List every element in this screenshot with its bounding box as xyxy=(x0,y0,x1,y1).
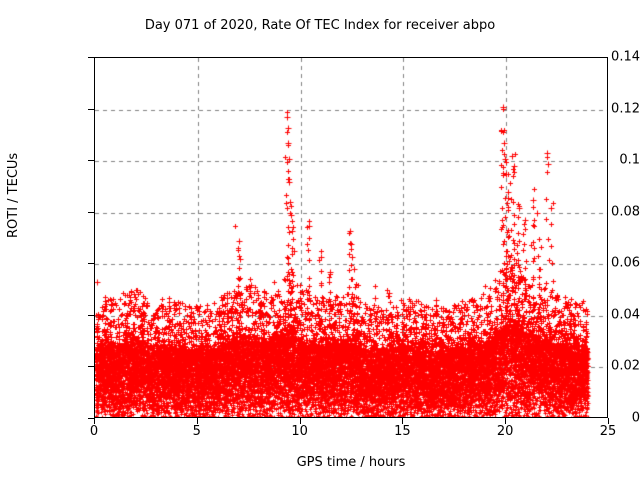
y-axis-title: ROTI / TECUs xyxy=(6,153,21,238)
y-axis-tick-label: 0.06 xyxy=(554,256,640,271)
y-axis-tick-label: 0 xyxy=(554,411,640,426)
chart-title: Day 071 of 2020, Rate Of TEC Index for r… xyxy=(0,18,640,33)
y-axis-tick-mark xyxy=(88,366,94,367)
x-axis-tick-mark xyxy=(505,418,506,424)
x-axis-tick-label: 20 xyxy=(497,424,514,439)
x-axis-tick-mark xyxy=(300,418,301,424)
y-axis-tick-label: 0.02 xyxy=(554,359,640,374)
y-axis-tick-label: 0.14 xyxy=(554,50,640,65)
x-axis-tick-label: 10 xyxy=(291,424,308,439)
plot-area xyxy=(94,57,608,418)
y-axis-tick-label: 0.12 xyxy=(554,101,640,116)
x-axis-tick-mark xyxy=(94,418,95,424)
y-axis-tick-mark xyxy=(88,160,94,161)
y-axis-tick-label: 0.04 xyxy=(554,307,640,322)
y-axis-tick-mark xyxy=(88,109,94,110)
y-axis-tick-mark xyxy=(88,315,94,316)
x-axis-tick-label: 5 xyxy=(193,424,201,439)
x-axis-title: GPS time / hours xyxy=(94,455,608,470)
x-axis-tick-mark xyxy=(402,418,403,424)
y-axis-tick-mark xyxy=(88,263,94,264)
x-axis-tick-label: 25 xyxy=(600,424,617,439)
x-axis-tick-label: 0 xyxy=(90,424,98,439)
y-axis-tick-mark xyxy=(88,212,94,213)
y-axis-tick-label: 0.1 xyxy=(554,153,640,168)
roti-scatter-chart: Day 071 of 2020, Rate Of TEC Index for r… xyxy=(0,0,640,480)
scatter-plot-canvas xyxy=(95,58,608,418)
x-axis-tick-label: 15 xyxy=(394,424,411,439)
x-axis-tick-mark xyxy=(608,418,609,424)
y-axis-tick-label: 0.08 xyxy=(554,204,640,219)
x-axis-tick-mark xyxy=(197,418,198,424)
y-axis-tick-mark xyxy=(88,57,94,58)
